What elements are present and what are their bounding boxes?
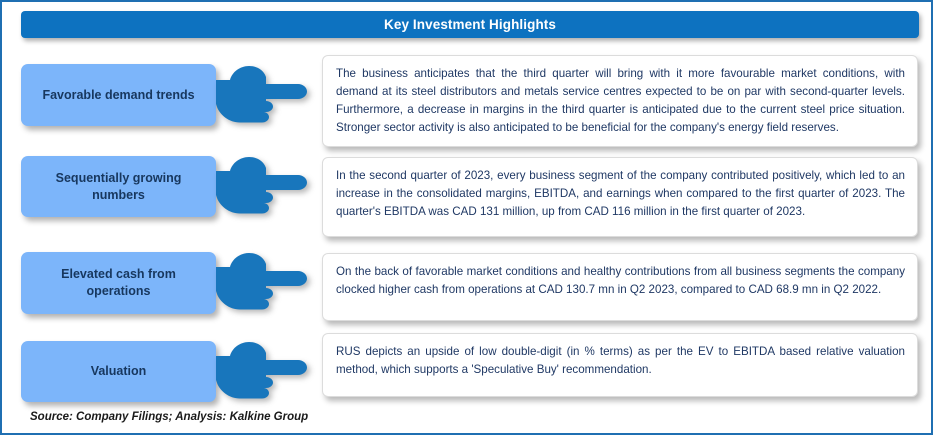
- highlight-text-card-2: In the second quarter of 2023, every bus…: [322, 157, 918, 237]
- highlight-label-text-1: Favorable demand trends: [42, 87, 194, 104]
- page-title: Key Investment Highlights: [384, 18, 556, 32]
- highlight-body-4: RUS depicts an upside of low double-digi…: [336, 343, 905, 379]
- source-note: Source: Company Filings; Analysis: Kalki…: [30, 411, 308, 423]
- key-investment-highlights-slide: Key Investment Highlights Favorable dema…: [0, 0, 933, 435]
- highlight-body-3: On the back of favorable market conditio…: [336, 263, 905, 299]
- pointing-hand-right-icon-3: [216, 251, 308, 313]
- highlight-body-1: The business anticipates that the third …: [336, 65, 905, 137]
- pointing-hand-right-icon-2: [216, 155, 308, 217]
- highlight-label-text-4: Valuation: [91, 363, 147, 380]
- highlight-label-text-3: Elevated cash from operations: [31, 266, 206, 299]
- pointing-hand-right-icon-4: [216, 340, 308, 402]
- highlight-text-card-1: The business anticipates that the third …: [322, 55, 918, 147]
- highlight-label-chip-3[interactable]: Elevated cash from operations: [21, 252, 216, 314]
- highlight-label-chip-4[interactable]: Valuation: [21, 341, 216, 402]
- pointing-hand-right-icon-1: [216, 64, 308, 126]
- highlight-body-2: In the second quarter of 2023, every bus…: [336, 167, 905, 221]
- highlight-label-chip-2[interactable]: Sequentially growing numbers: [21, 156, 216, 217]
- highlight-label-text-2: Sequentially growing numbers: [31, 170, 206, 203]
- header-banner: Key Investment Highlights: [21, 11, 919, 38]
- highlight-text-card-4: RUS depicts an upside of low double-digi…: [322, 333, 918, 397]
- highlight-text-card-3: On the back of favorable market conditio…: [322, 253, 918, 321]
- highlight-label-chip-1[interactable]: Favorable demand trends: [21, 64, 216, 126]
